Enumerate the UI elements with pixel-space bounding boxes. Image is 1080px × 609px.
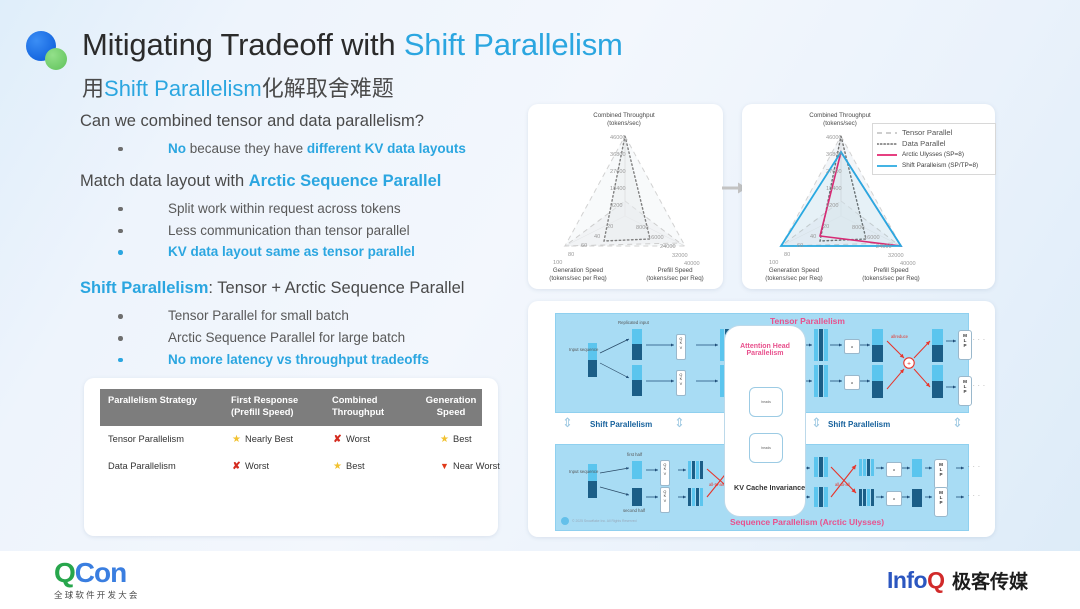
cell-strategy: Tensor Parallelism (100, 426, 223, 453)
tick-throughput-9200: 9200 (826, 203, 838, 209)
column-header-generation: Generation Speed (417, 389, 482, 426)
radar-chart-left-panel: Combined Throughput (tokens/sec) 46000 3… (528, 104, 723, 289)
subtitle-post: 化解取舍难题 (262, 76, 394, 101)
table-body: Tensor Parallelism ★Nearly Best ✘Worst ★… (100, 426, 482, 480)
question-2: Match data layout with Arctic Sequence P… (80, 170, 520, 194)
bullet-dot-icon (118, 147, 123, 152)
tick-throughput-36800: 36800 (826, 152, 842, 158)
dashed-line-swatch-icon (877, 132, 897, 134)
dotted-line-swatch-icon (877, 143, 897, 145)
question-3-plain: : Tensor + Arctic Sequence Parallel (208, 279, 464, 297)
input-sequence-label: Input sequence (569, 469, 598, 474)
tick-prefill-24000: 24000 (876, 244, 892, 250)
axis-label-prefill: Prefill Speed (tokens/sec per Req) (629, 267, 721, 283)
header-line-2: Throughput (332, 407, 384, 417)
heads-label: heads (761, 400, 771, 404)
axis-label-line-1: Prefill Speed (845, 267, 937, 275)
ellipsis-icon: · · · (968, 464, 981, 470)
o-projection-box: o (886, 462, 902, 477)
bullet-text-post: different KV data layouts (307, 141, 466, 156)
ellipsis-icon: · · · (973, 383, 986, 389)
body-content: Can we combined tensor and data parallel… (80, 110, 520, 381)
question-2-highlight: Arctic Sequence Parallel (249, 172, 442, 190)
infoq-logo: InfoQ极客传媒 (887, 567, 1028, 594)
question-1: Can we combined tensor and data parallel… (80, 110, 520, 134)
kv-cache-invariance-label: KV Cache Invariance (734, 483, 805, 492)
qcon-logo: QCon 全球软件开发大会 (54, 559, 140, 601)
bullet-dot-icon (118, 358, 123, 363)
tick-throughput-18400: 18400 (826, 186, 842, 192)
column-header-prefill: First Response (Prefill Speed) (223, 389, 324, 426)
infoq-q: Q (927, 567, 945, 594)
page-title-highlight: Shift Parallelism (404, 27, 623, 62)
table-header-row: Parallelism Strategy First Response (Pre… (100, 389, 482, 426)
bullet-item: KV data layout same as tensor parallel (80, 241, 520, 263)
o-label: o (851, 380, 853, 385)
star-icon: ★ (439, 434, 450, 445)
axis-label-generation: Generation Speed (tokens/sec per Req) (532, 267, 624, 283)
tick-generation-40: 40 (594, 234, 600, 240)
bullet-item: No more latency vs throughput tradeoffs (80, 349, 520, 371)
bullet-dot-icon (118, 314, 123, 319)
legend-label: Arctic Ulysses (SP=8) (902, 151, 964, 158)
radar-chart-right-panel: Combined Throughput (tokens/sec) 46000 3… (742, 104, 995, 289)
tick-prefill-32000: 32000 (888, 253, 904, 259)
table-header: Parallelism Strategy First Response (Pre… (100, 389, 482, 426)
tick-throughput-46000: 46000 (610, 135, 626, 141)
legend-label: Data Parallel (902, 139, 945, 148)
brand-dots-logo (26, 31, 74, 75)
cell-prefill: ★Nearly Best (223, 426, 324, 453)
o-label: o (893, 496, 895, 501)
cell-label: Worst (346, 434, 370, 444)
axis-label-line-1: Generation Speed (748, 267, 840, 275)
question-1-bullets: No because they have different KV data l… (80, 138, 520, 160)
bullet-text: No more latency vs throughput tradeoffs (168, 352, 429, 367)
bullet-item: Arctic Sequence Parallel for large batch (80, 327, 520, 349)
cell-label: Best (453, 434, 472, 444)
tick-generation-100: 100 (553, 260, 562, 266)
tick-prefill-16000: 16000 (864, 235, 880, 241)
tick-generation-60: 60 (581, 243, 587, 249)
first-half-label: first half (627, 452, 642, 457)
qkv-box: QKV (660, 487, 670, 513)
o-label: o (851, 344, 853, 349)
question-3-highlight: Shift Parallelism (80, 279, 208, 297)
bullet-item: Less communication than tensor parallel (80, 220, 520, 242)
bullet-text: Tensor Parallel for small batch (168, 308, 349, 323)
solid-line-swatch-icon (877, 165, 897, 167)
axis-label-line-2: (tokens/sec per Req) (845, 275, 937, 283)
cell-generation: ★Best (417, 426, 482, 453)
tick-generation-80: 80 (568, 252, 574, 258)
page-title: Mitigating Tradeoff with Shift Paralleli… (82, 27, 623, 63)
column-header-strategy: Parallelism Strategy (100, 389, 223, 426)
tick-generation-20: 20 (823, 224, 829, 230)
axis-label-line-1: Prefill Speed (629, 267, 721, 275)
bullet-dot-icon (118, 336, 123, 341)
bullet-dot-icon (118, 207, 123, 212)
infoq-info: Info (887, 567, 927, 594)
star-icon: ★ (231, 434, 242, 445)
tick-prefill-16000: 16000 (648, 235, 664, 241)
bullet-text: Arctic Sequence Parallel for large batch (168, 330, 405, 345)
legend-entry-shift-parallelism: Shift Paralleism (SP/TP=8) (877, 160, 991, 171)
legend-label: Tensor Parallel (902, 128, 952, 137)
chart-legend: Tensor Parallel Data Parallel Arctic Uly… (872, 123, 996, 175)
bullet-dot-icon (118, 250, 123, 255)
tick-generation-60: 60 (797, 243, 803, 249)
legend-label: Shift Paralleism (SP/TP=8) (902, 162, 978, 169)
subtitle-pre: 用 (82, 76, 104, 101)
tick-generation-100: 100 (769, 260, 778, 266)
header-line-1: First Response (231, 395, 298, 405)
infoq-chinese: 极客传媒 (952, 567, 1028, 594)
center-title-line-1: Attention Head (736, 343, 794, 350)
attention-heads-box: heads (749, 433, 783, 463)
bullet-text: Less communication than tensor parallel (168, 223, 410, 238)
qcon-subtitle: 全球软件开发大会 (54, 589, 140, 601)
table-row: Tensor Parallelism ★Nearly Best ✘Worst ★… (100, 426, 482, 453)
tick-generation-80: 80 (784, 252, 790, 258)
cell-throughput: ✘Worst (324, 426, 417, 453)
comparison-table-card: Parallelism Strategy First Response (Pre… (84, 378, 498, 536)
column-header-throughput: Combined Throughput (324, 389, 417, 426)
tick-throughput-27600: 27600 (610, 169, 626, 175)
footer-bar: QCon 全球软件开发大会 InfoQ极客传媒 (0, 551, 1080, 609)
axis-label-line-2: (tokens/sec per Req) (629, 275, 721, 283)
subtitle-highlight: Shift Parallelism (104, 76, 262, 101)
star-icon: ★ (332, 461, 343, 472)
bullet-item: Split work within request across tokens (80, 198, 520, 220)
input-sequence-label: Input sequence (569, 347, 598, 352)
tick-generation-20: 20 (607, 224, 613, 230)
qcon-con: Con (75, 557, 126, 588)
tick-prefill-8000: 8000 (636, 225, 648, 231)
architecture-diagram-panel: Tensor Parallelism Sequence Parallelism … (528, 301, 995, 537)
allreduce-label: allreduce (891, 334, 908, 339)
mlp-box: MLP (934, 487, 948, 517)
ellipsis-icon: · · · (968, 493, 981, 499)
slide-root: Mitigating Tradeoff with Shift Paralleli… (0, 0, 1080, 609)
svg-text:+: + (907, 361, 911, 368)
tick-prefill-8000: 8000 (852, 225, 864, 231)
mlp-box: MLP (958, 330, 972, 360)
bullet-item: Tensor Parallel for small batch (80, 305, 520, 327)
cross-icon: ✘ (231, 461, 242, 472)
tick-throughput-27600: 27600 (826, 169, 842, 175)
down-triangle-icon: ▼ (439, 461, 450, 471)
axis-label-prefill: Prefill Speed (tokens/sec per Req) (845, 267, 937, 283)
question-2-bullets: Split work within request across tokens … (80, 198, 520, 264)
replicated-input-label: Replicated input (618, 320, 649, 325)
table-row: Data Parallelism ✘Worst ★Best ▼Near Wors… (100, 453, 482, 480)
all-to-all-label: all-to-all (709, 482, 724, 487)
comparison-table: Parallelism Strategy First Response (Pre… (100, 389, 482, 480)
page-subtitle: 用Shift Parallelism化解取舍难题 (82, 71, 394, 103)
cross-icon: ✘ (332, 434, 343, 445)
diagram-canvas: Tensor Parallelism Sequence Parallelism … (528, 301, 995, 537)
cell-throughput: ★Best (324, 453, 417, 480)
o-projection-box: o (844, 375, 860, 390)
second-half-label: second half (623, 508, 645, 513)
bullet-text-pre: No (168, 141, 186, 156)
qcon-wordmark: QCon (54, 559, 140, 587)
ellipsis-icon: · · · (973, 337, 986, 343)
bullet-dot-icon (118, 229, 123, 234)
attention-heads-box: heads (749, 387, 783, 417)
cell-strategy: Data Parallelism (100, 453, 223, 480)
header-line-1: Generation (426, 395, 477, 406)
axis-label-line-1: Generation Speed (532, 267, 624, 275)
cell-label: Nearly Best (245, 434, 293, 444)
question-2-plain: Match data layout with (80, 172, 249, 190)
header-line-2: Speed (437, 407, 466, 418)
cell-generation: ▼Near Worst (417, 453, 482, 480)
o-projection-box: o (886, 491, 902, 506)
snowflake-logo-icon (561, 517, 569, 525)
bullet-item: No because they have different KV data l… (80, 138, 520, 160)
center-title-line-2: Parallelism (736, 350, 794, 357)
qkv-box: QKV (660, 460, 670, 486)
bullet-text: KV data layout same as tensor parallel (168, 244, 415, 259)
header-line-1: Combined (332, 395, 377, 405)
tick-throughput-9200: 9200 (610, 203, 622, 209)
qkv-box: QKV (676, 370, 686, 396)
o-label: o (893, 467, 895, 472)
legend-entry-data-parallel: Data Parallel (877, 138, 991, 149)
heads-label: heads (761, 446, 771, 450)
green-circle-icon (45, 48, 67, 70)
tick-throughput-18400: 18400 (610, 186, 626, 192)
page-title-plain: Mitigating Tradeoff with (82, 27, 404, 62)
axis-label-line-2: (tokens/sec per Req) (748, 275, 840, 283)
qkv-box: QKV (676, 334, 686, 360)
tick-prefill-24000: 24000 (660, 244, 676, 250)
center-title: Attention Head Parallelism (736, 343, 794, 357)
legend-entry-tensor-parallel: Tensor Parallel (877, 127, 991, 138)
mlp-box: MLP (934, 459, 948, 489)
mlp-box: MLP (958, 376, 972, 406)
tick-generation-40: 40 (810, 234, 816, 240)
cell-label: Near Worst (453, 461, 500, 471)
copyright-label: © 2025 Snowflake Inc. All Rights Reserve… (572, 519, 637, 523)
legend-entry-arctic-ulysses: Arctic Ulysses (SP=8) (877, 149, 991, 160)
cell-prefill: ✘Worst (223, 453, 324, 480)
header-line-2: (Prefill Speed) (231, 407, 294, 417)
tick-throughput-46000: 46000 (826, 135, 842, 141)
o-projection-box: o (844, 339, 860, 354)
axis-label-generation: Generation Speed (tokens/sec per Req) (748, 267, 840, 283)
axis-label-line-2: (tokens/sec per Req) (532, 275, 624, 283)
bullet-text: Split work within request across tokens (168, 201, 401, 216)
cell-label: Best (346, 461, 365, 471)
question-3: Shift Parallelism: Tensor + Arctic Seque… (80, 277, 520, 301)
cell-label: Worst (245, 461, 269, 471)
tick-throughput-36800: 36800 (610, 152, 626, 158)
bullet-text-mid: because they have (186, 141, 307, 156)
solid-line-swatch-icon (877, 154, 897, 156)
all-to-all-label: all-to-all (835, 482, 850, 487)
question-3-bullets: Tensor Parallel for small batch Arctic S… (80, 305, 520, 371)
qcon-q: Q (54, 557, 75, 588)
tick-prefill-32000: 32000 (672, 253, 688, 259)
